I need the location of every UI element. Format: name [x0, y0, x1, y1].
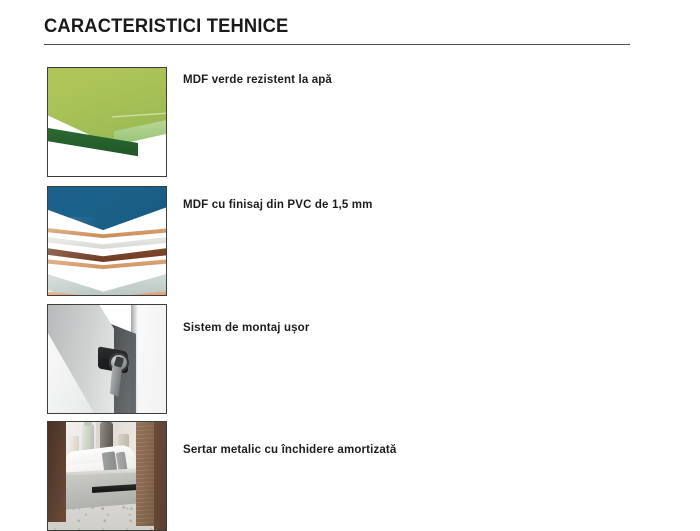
page-header: CARACTERISTICI TEHNICE [44, 14, 630, 45]
title-divider [44, 44, 630, 45]
bottle-cap [84, 422, 92, 426]
page-title: CARACTERISTICI TEHNICE [44, 14, 595, 38]
feature-label: Sertar metalic cu închidere amortizată [183, 444, 396, 456]
green-mdf-board-photo [47, 67, 167, 177]
feature-label: MDF verde rezistent la apă [183, 74, 332, 86]
feature-label: Sistem de montaj ușor [183, 322, 309, 334]
easy-mounting-system-photo [47, 304, 167, 414]
mounting-system-illustration [48, 305, 166, 413]
soft-close-metal-drawer-photo [47, 421, 167, 531]
drawer-illustration [48, 422, 166, 530]
feature-label: MDF cu finisaj din PVC de 1,5 mm [183, 199, 372, 211]
pvc-finish-layers-photo [47, 186, 167, 296]
panel-shadow [131, 305, 138, 413]
cabinet-side-right-front [154, 422, 166, 530]
pvc-layers-illustration [48, 187, 166, 295]
cabinet-side-left [48, 422, 66, 522]
green-mdf-illustration [48, 68, 166, 176]
